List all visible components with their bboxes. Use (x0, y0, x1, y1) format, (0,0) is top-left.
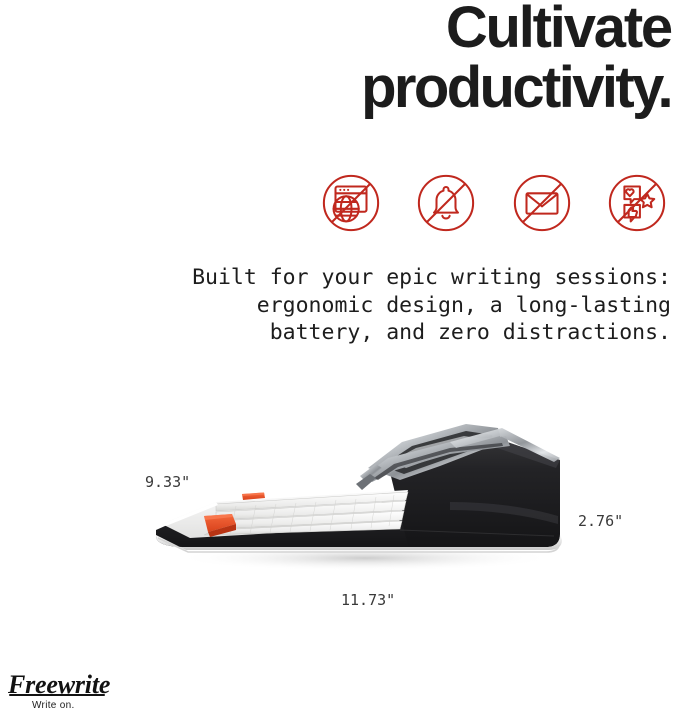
body-copy: Built for your epic writing sessions: er… (71, 264, 671, 347)
dimension-height-label: 9.33" (145, 473, 190, 491)
distraction-icon-row (318, 168, 670, 238)
product-image (150, 398, 570, 588)
no-email-icon (509, 170, 575, 236)
body-copy-line-2: ergonomic design, a long-lasting (71, 292, 671, 320)
brand-tagline: Write on. (32, 700, 158, 711)
no-social-media-icon (604, 170, 670, 236)
dimension-width-label: 11.73" (341, 591, 395, 609)
brand-wordmark: Freewrite (8, 672, 158, 698)
freewrite-typewriter-illustration (150, 398, 570, 588)
body-copy-line-3: battery, and zero distractions. (71, 319, 671, 347)
headline-line-2: productivity. (361, 58, 671, 118)
dimension-depth-label: 2.76" (578, 512, 623, 530)
headline-line-1: Cultivate (361, 0, 671, 58)
body-copy-line-1: Built for your epic writing sessions: (71, 264, 671, 292)
page-title: Cultivate productivity. (361, 0, 671, 118)
no-bell-icon (413, 170, 479, 236)
no-browser-globe-icon (318, 170, 384, 236)
brand-logo: Freewrite Write on. (8, 672, 158, 711)
product-marketing-page: Cultivate productivity. (0, 0, 679, 716)
